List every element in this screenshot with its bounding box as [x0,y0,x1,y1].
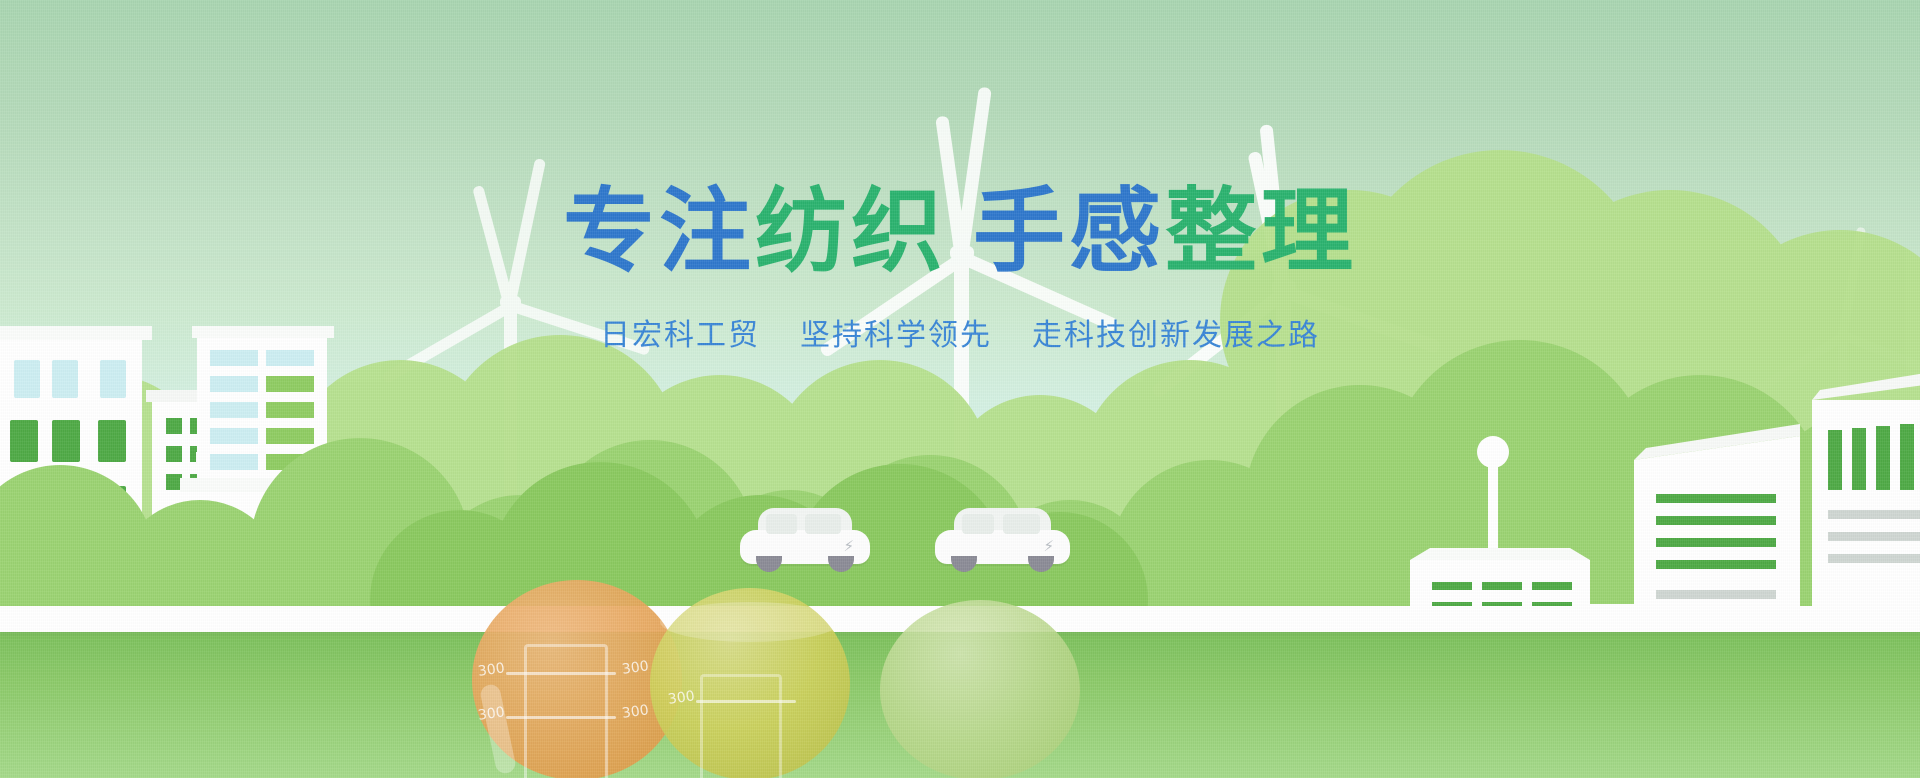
car-window-front [766,514,797,534]
beaker-yellow: 300 [650,588,850,778]
car-wheel-rear [828,556,854,572]
electric-car-left: ⚡ [740,500,870,572]
subtitle-part-3: 走科技创新发展之路 [1032,318,1320,353]
page-title: 专注纺织手感整理 [0,186,1920,278]
subtitle-part-2: 坚持科学领先 [800,318,992,353]
car-wheel-rear [1028,556,1054,572]
car-window-rear [805,514,841,534]
car-wheel-front [756,556,782,572]
headline-segment-3: 手感 [973,178,1165,285]
beaker-inner-cylinder [700,674,782,778]
headline-segment-4: 整理 [1165,178,1357,285]
headline-segment-1: 专注 [563,178,755,285]
beaker-bulb [880,600,1080,778]
ev-lightning-icon: ⚡ [1043,539,1054,554]
car-wheel-front [951,556,977,572]
beaker-inner-cylinder [524,644,608,778]
car-window-rear [1003,514,1041,534]
hero-banner: ⚡ ⚡ 300 300 300 300 300 专注纺织手感整理 [0,0,1920,778]
beaker-rim-highlight [660,602,840,642]
electric-car-right: ⚡ [935,500,1070,572]
beaker-green [880,600,1080,778]
car-window-front [962,514,994,534]
headline-segment-2: 纺织 [755,178,947,285]
subtitle-part-1: 日宏科工贸 [600,318,760,353]
ev-lightning-icon: ⚡ [843,539,854,554]
page-subtitle: 日宏科工贸坚持科学领先走科技创新发展之路 [0,310,1920,354]
